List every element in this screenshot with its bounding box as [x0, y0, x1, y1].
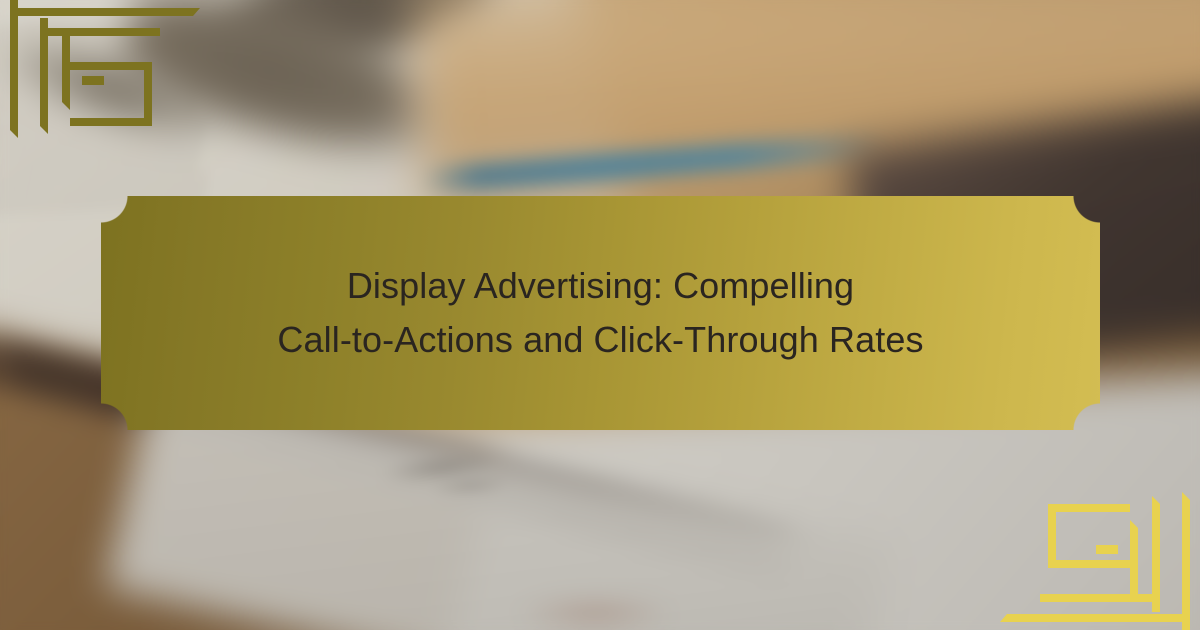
- page-title-line-1: Display Advertising: Compelling: [347, 259, 854, 313]
- title-card-canvas: Display Advertising: Compelling Call-to-…: [0, 0, 1200, 630]
- title-banner: Display Advertising: Compelling Call-to-…: [101, 196, 1100, 430]
- page-title-line-2: Call-to-Actions and Click-Through Rates: [277, 313, 923, 367]
- title-banner-content: Display Advertising: Compelling Call-to-…: [101, 196, 1100, 430]
